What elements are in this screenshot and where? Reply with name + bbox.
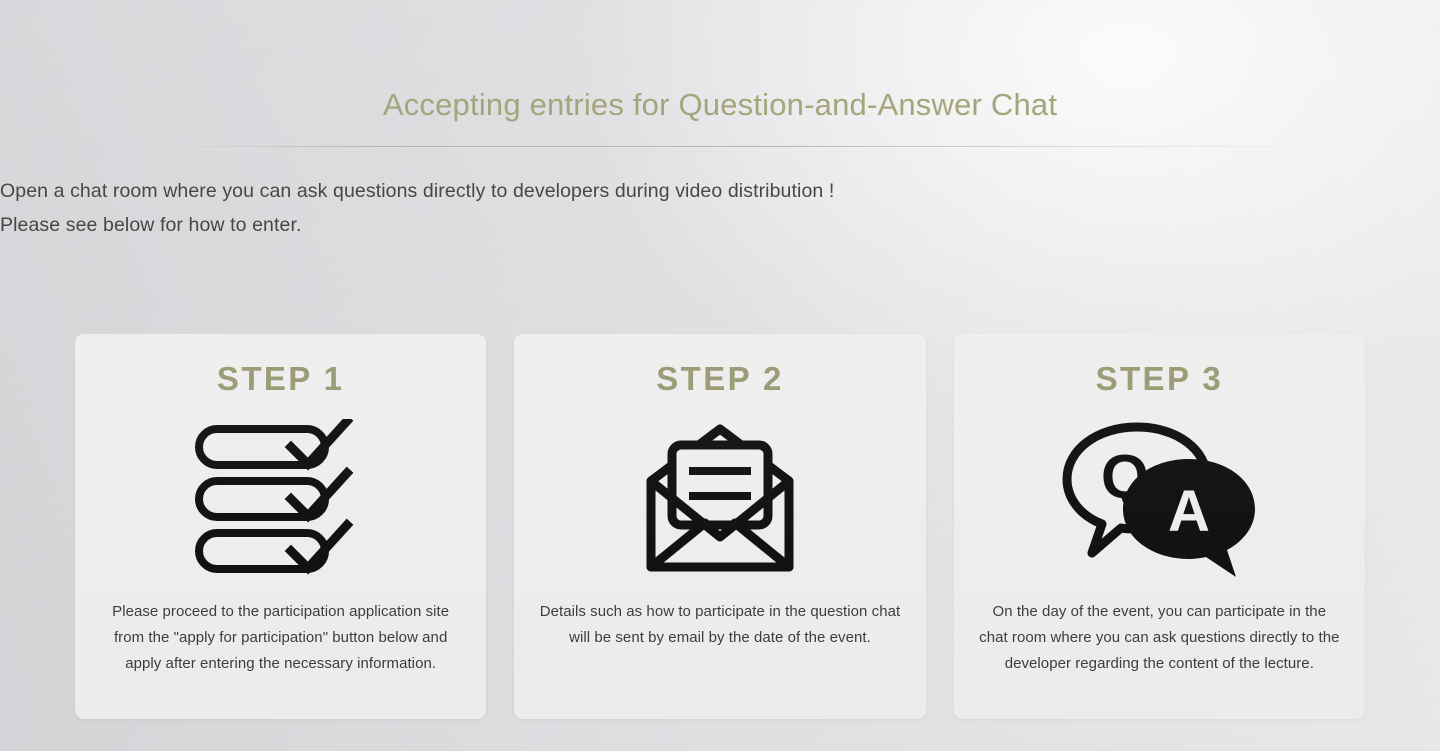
step-2-body-line-1: Details such as how to participate in th… (530, 599, 910, 625)
step-3-body-line-3: developer regarding the content of the l… (969, 651, 1349, 677)
page-subtitle: Open a chat room where you can ask quest… (0, 174, 1440, 242)
page-root: Accepting entries for Question-and-Answe… (0, 0, 1440, 751)
step-3-body-line-1: On the day of the event, you can partici… (969, 599, 1349, 625)
step-card-3: STEP 3 Q A On the day of the (954, 334, 1365, 719)
step-card-2: STEP 2 (514, 334, 925, 719)
svg-text:Q: Q (1101, 443, 1149, 512)
step-2-body-line-2: will be sent by email by the date of the… (530, 625, 910, 651)
step-1-body-line-1: Please proceed to the participation appl… (91, 599, 471, 625)
step-2-icon-wrap (645, 417, 795, 585)
subtitle-line-1: Open a chat room where you can ask quest… (0, 174, 1440, 208)
step-1-body-line-3: apply after entering the necessary infor… (91, 651, 471, 677)
open-envelope-icon (645, 423, 795, 580)
subtitle-line-2: Please see below for how to enter. (0, 208, 1440, 242)
page-header: Accepting entries for Question-and-Answe… (0, 0, 1440, 125)
step-3-body: On the day of the event, you can partici… (969, 599, 1349, 677)
step-1-icon-wrap (191, 417, 371, 585)
checklist-icon (191, 419, 371, 584)
qa-speech-bubbles-icon: Q A (1059, 419, 1259, 584)
step-3-label: STEP 3 (1096, 362, 1224, 395)
step-card-1: STEP 1 Please proceed to the participati… (75, 334, 486, 719)
step-3-icon-wrap: Q A (1059, 417, 1259, 585)
title-divider (170, 146, 1325, 147)
step-2-label: STEP 2 (656, 362, 784, 395)
svg-text:A: A (1168, 479, 1210, 544)
step-1-body-line-2: from the "apply for participation" butto… (91, 625, 471, 651)
step-1-label: STEP 1 (217, 362, 345, 395)
step-1-body: Please proceed to the participation appl… (91, 599, 471, 677)
steps-card-row: STEP 1 Please proceed to the participati… (75, 334, 1365, 719)
step-2-body: Details such as how to participate in th… (530, 599, 910, 651)
step-3-body-line-2: chat room where you can ask questions di… (969, 625, 1349, 651)
page-title: Accepting entries for Question-and-Answe… (0, 0, 1440, 125)
